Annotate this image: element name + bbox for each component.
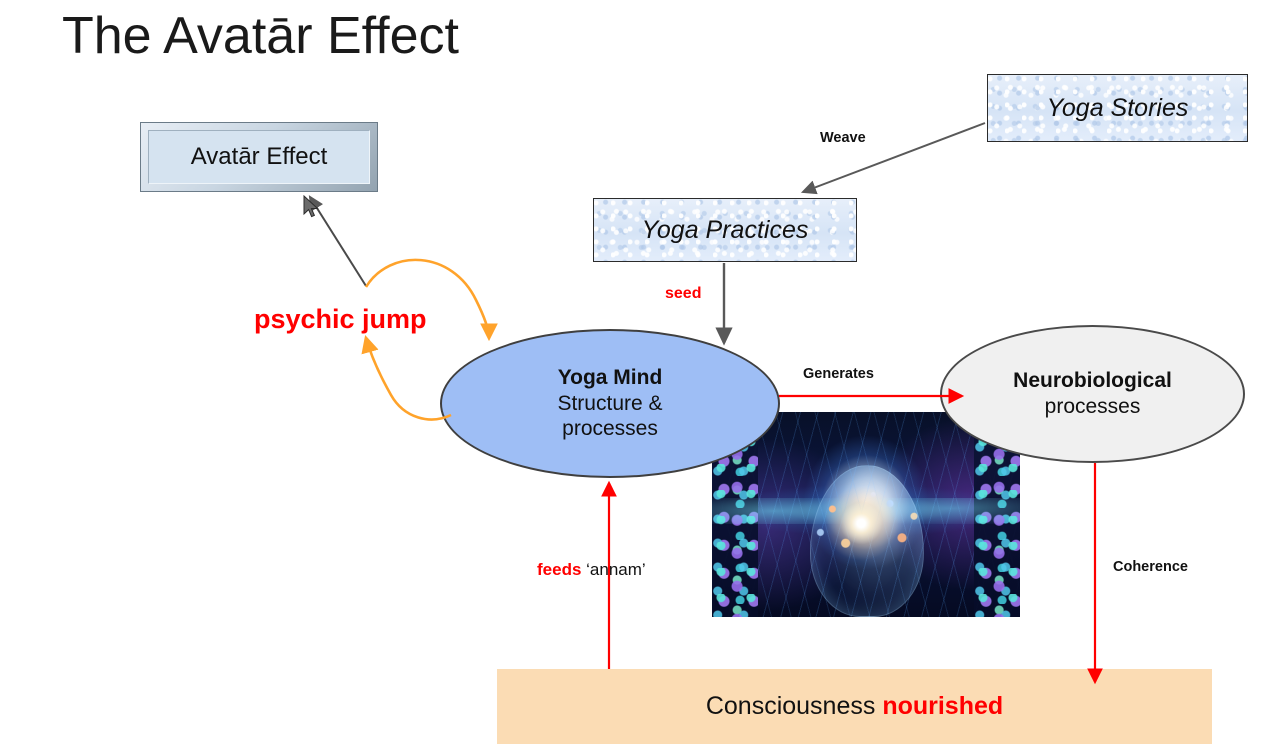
yoga-stories-box[interactable]: Yoga Stories: [987, 74, 1248, 142]
edge-label-coherence: Coherence: [1113, 559, 1188, 575]
edge-label-psychic-jump: psychic jump: [254, 304, 427, 335]
mouse-cursor-icon: [303, 195, 321, 221]
yoga-practices-box[interactable]: Yoga Practices: [593, 198, 857, 262]
consciousness-bar: Consciousness nourished: [497, 669, 1212, 744]
edge-label-weave: Weave: [820, 130, 866, 146]
edge-label-generates: Generates: [803, 366, 874, 382]
neurobiological-line2: processes: [1045, 394, 1141, 420]
consciousness-label: Consciousness nourished: [706, 692, 1003, 721]
yoga-mind-line2: Structure &: [557, 391, 662, 417]
edge-label-feeds-annotation: ‘annam’: [581, 560, 645, 579]
avatar-effect-box-inner: Avatār Effect: [148, 130, 370, 184]
yoga-mind-ellipse[interactable]: Yoga Mind Structure & processes: [440, 329, 780, 478]
neurobiological-title: Neurobiological: [1013, 368, 1172, 394]
edge-label-seed: seed: [665, 285, 701, 303]
cosmic-brain-image: [712, 412, 1020, 617]
avatar-effect-label: Avatār Effect: [191, 143, 328, 171]
slide-canvas: The Avatār Effect Consciousness nourishe…: [0, 0, 1280, 744]
edge-label-feeds-keyword: feeds: [537, 560, 581, 579]
page-title: The Avatār Effect: [62, 8, 459, 64]
yoga-mind-line3: processes: [562, 416, 658, 442]
edge-label-feeds: feeds ‘annam’: [537, 560, 646, 580]
yoga-mind-title: Yoga Mind: [558, 365, 663, 391]
brain-energy-burst: [806, 482, 926, 572]
yoga-practices-label: Yoga Practices: [642, 216, 809, 245]
consciousness-static-text: Consciousness: [706, 692, 882, 720]
neurobiological-ellipse[interactable]: Neurobiological processes: [940, 325, 1245, 463]
consciousness-highlight-text: nourished: [882, 692, 1003, 720]
avatar-effect-box[interactable]: Avatār Effect: [140, 122, 378, 192]
yoga-stories-label: Yoga Stories: [1047, 94, 1189, 123]
